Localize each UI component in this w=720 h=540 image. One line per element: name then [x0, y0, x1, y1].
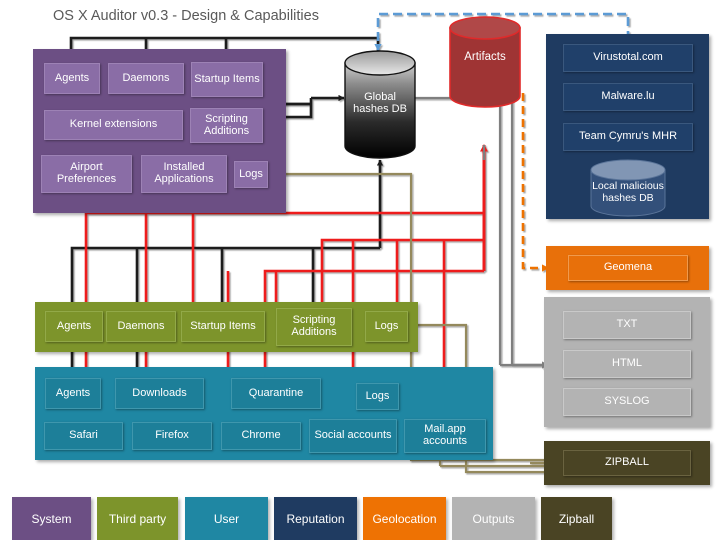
- user-item-mailapp-accounts[interactable]: Mail.app accounts: [404, 419, 486, 453]
- third-party-item-agents[interactable]: Agents: [45, 311, 103, 342]
- legend-item-system[interactable]: System: [12, 497, 91, 540]
- user-item-firefox[interactable]: Firefox: [132, 422, 212, 450]
- outputs-item-html[interactable]: HTML: [563, 350, 691, 378]
- local-malicious-hashes-db-cylinder[interactable]: [588, 159, 668, 217]
- system-item-daemons[interactable]: Daemons: [108, 63, 184, 94]
- third-party-item-startup-items[interactable]: Startup Items: [181, 311, 265, 342]
- system-item-airport-preferences[interactable]: Airport Preferences: [41, 155, 132, 193]
- system-item-installed-applications[interactable]: Installed Applications: [141, 155, 227, 193]
- reputation-item-malware-lu[interactable]: Malware.lu: [563, 83, 693, 111]
- page-title: OS X Auditor v0.3 - Design & Capabilitie…: [53, 8, 319, 24]
- system-item-logs[interactable]: Logs: [234, 161, 268, 188]
- user-item-logs[interactable]: Logs: [356, 383, 399, 410]
- outputs-item-txt[interactable]: TXT: [563, 311, 691, 339]
- system-item-kernel-extensions[interactable]: Kernel extensions: [44, 110, 183, 140]
- global-hashes-db-cylinder[interactable]: [342, 50, 418, 160]
- outputs-item-syslog[interactable]: SYSLOG: [563, 388, 691, 416]
- system-item-startup-items[interactable]: Startup Items: [191, 62, 263, 97]
- user-item-chrome[interactable]: Chrome: [221, 422, 301, 450]
- reputation-item-team-cymru-mhr[interactable]: Team Cymru's MHR: [563, 123, 693, 151]
- third-party-item-daemons[interactable]: Daemons: [106, 311, 176, 342]
- user-item-downloads[interactable]: Downloads: [115, 378, 204, 409]
- diagram-canvas: OS X Auditor v0.3 - Design & Capabilitie…: [0, 0, 720, 540]
- artifacts-cylinder[interactable]: [447, 16, 523, 110]
- user-item-safari[interactable]: Safari: [44, 422, 123, 450]
- third-party-item-scripting-additions[interactable]: Scripting Additions: [276, 308, 352, 346]
- legend-item-third-party[interactable]: Third party: [97, 497, 178, 540]
- user-item-social-accounts[interactable]: Social accounts: [309, 419, 397, 453]
- legend-item-zipball[interactable]: Zipball: [541, 497, 612, 540]
- legend-item-geolocation[interactable]: Geolocation: [363, 497, 446, 540]
- zipball-item-zipball[interactable]: ZIPBALL: [563, 450, 691, 476]
- legend-item-user[interactable]: User: [185, 497, 268, 540]
- legend-item-reputation[interactable]: Reputation: [274, 497, 357, 540]
- third-party-item-logs[interactable]: Logs: [365, 311, 408, 342]
- legend-item-outputs[interactable]: Outputs: [452, 497, 535, 540]
- system-item-agents[interactable]: Agents: [44, 63, 100, 94]
- reputation-item-virustotal[interactable]: Virustotal.com: [563, 44, 693, 72]
- system-item-scripting-additions[interactable]: Scripting Additions: [190, 108, 263, 143]
- geolocation-item-geomena[interactable]: Geomena: [568, 255, 688, 281]
- user-item-quarantine[interactable]: Quarantine: [231, 378, 321, 409]
- user-item-agents[interactable]: Agents: [45, 378, 101, 409]
